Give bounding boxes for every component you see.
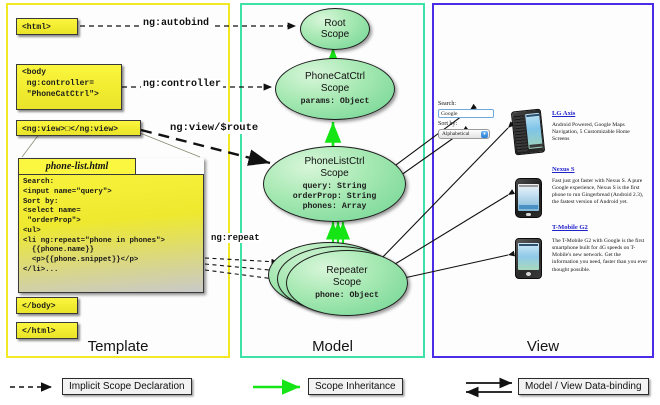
html-close-box: </html> [16, 322, 78, 339]
ngview-tag-box: <ng:view>□</ng:view> [16, 120, 141, 136]
html-tag-box: <html> [16, 18, 78, 35]
scope-phonecatctrl-title: PhoneCatCtrl Scope [305, 71, 365, 93]
scope-repeater-props: phone: Object [315, 291, 379, 301]
column-label-template: Template [8, 338, 228, 355]
scope-phonecatctrl: PhoneCatCtrl Scope params: Object [275, 58, 395, 120]
legend: Implicit Scope Declaration Scope Inherit… [0, 370, 660, 405]
view-sort-label: Sort by: [438, 121, 457, 127]
phone-thumbnail-t-mobile-g2 [515, 238, 542, 279]
template-file-code: Search: <input name="query"> Sort by: <s… [18, 174, 204, 293]
column-label-view: View [434, 338, 652, 355]
diagram-canvas: Template Model View [0, 0, 660, 405]
phone-snippet-0: Android Powered, Google Maps Navigation,… [552, 122, 648, 143]
phone-snippet-1: Fast just got faster with Nexus S. A pur… [552, 178, 648, 207]
phone-thumbnail-lg-axis [511, 109, 545, 156]
edge-label-autobind: ng:autobind [141, 18, 211, 29]
body-close-box: </body> [16, 297, 78, 314]
edge-label-repeat: ng:repeat [209, 233, 262, 243]
view-search-label: Search: [438, 101, 456, 107]
phone-thumbnail-nexus-s [515, 178, 542, 218]
template-file-card: phone-list.html Search: <input name="que… [18, 158, 204, 293]
view-sort-select[interactable]: Alphabetical ▾ [438, 129, 490, 139]
view-sort-selected-value: Alphabetical [442, 131, 470, 137]
scope-phonecatctrl-props: params: Object [301, 97, 370, 107]
scope-phonelistctrl: PhoneListCtrl Scope query: String orderP… [263, 146, 406, 222]
legend-implicit-scope-declaration: Implicit Scope Declaration [62, 378, 192, 395]
edge-label-controller: ng:controller [141, 79, 223, 90]
phone-snippet-2: The T-Mobile G2 with Google is the first… [552, 238, 648, 274]
phone-name-2[interactable]: T-Mobile G2 [552, 224, 588, 231]
scope-root: Root Scope [300, 8, 370, 50]
phone-name-0[interactable]: LG Axis [552, 110, 575, 117]
view-search-input[interactable]: Google [438, 109, 494, 118]
column-label-model: Model [242, 338, 423, 355]
phone-name-1[interactable]: Nexus S [552, 166, 575, 173]
legend-model-view-databinding: Model / View Data-binding [518, 378, 649, 395]
body-tag-box: <body ng:controller= "PhoneCatCtrl"> [16, 64, 122, 110]
legend-scope-inheritance: Scope Inheritance [308, 378, 403, 395]
scope-root-title: Root Scope [321, 18, 349, 40]
scope-repeater-title: Repeater Scope [326, 265, 367, 287]
scope-repeater: Repeater Scope phone: Object [286, 250, 408, 316]
scope-phonelistctrl-title: PhoneListCtrl Scope [304, 156, 364, 178]
template-file-name: phone-list.html [18, 158, 136, 175]
scope-phonelistctrl-props: query: String orderProp: String phones: … [293, 182, 377, 212]
chevron-down-icon: ▾ [481, 131, 488, 138]
edge-label-view-route: ng:view/$route [168, 122, 260, 134]
